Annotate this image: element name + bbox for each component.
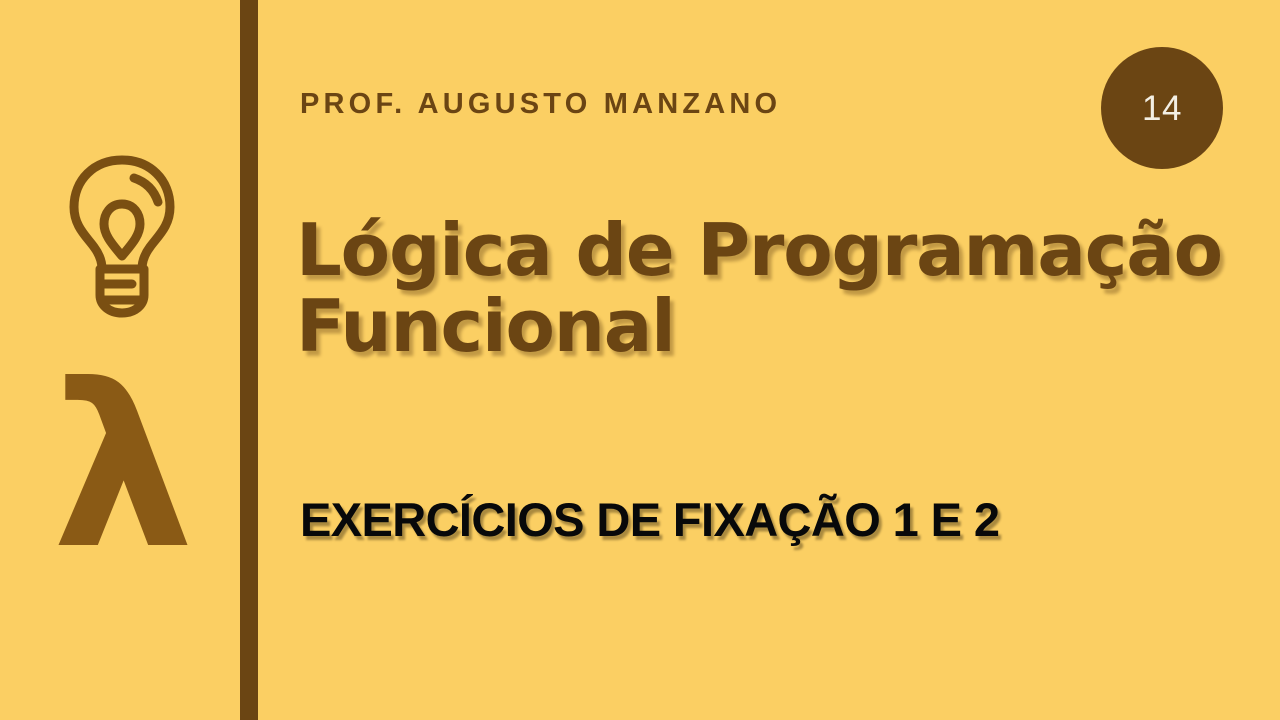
- left-icon-rail: λ: [0, 0, 240, 720]
- slide-number-badge: 14: [1101, 47, 1223, 169]
- lambda-icon: λ: [38, 368, 208, 568]
- content-column: PROF. AUGUSTO MANZANO 14 Lógica de Progr…: [258, 0, 1280, 720]
- title-line-2: Funcional: [296, 284, 675, 368]
- slide-number-text: 14: [1142, 91, 1182, 126]
- lightbulb-icon: [62, 152, 182, 327]
- author-name: PROF. AUGUSTO MANZANO: [300, 88, 781, 121]
- page-subtitle: EXERCÍCIOS DE FIXAÇÃO 1 E 2: [300, 492, 999, 547]
- title-line-1: Lógica de Programação: [296, 208, 1222, 292]
- slide-canvas: λ PROF. AUGUSTO MANZANO 14 Lógica de Pro…: [0, 0, 1280, 720]
- vertical-divider: [240, 0, 258, 720]
- page-title: Lógica de ProgramaçãoFuncional: [296, 212, 1256, 365]
